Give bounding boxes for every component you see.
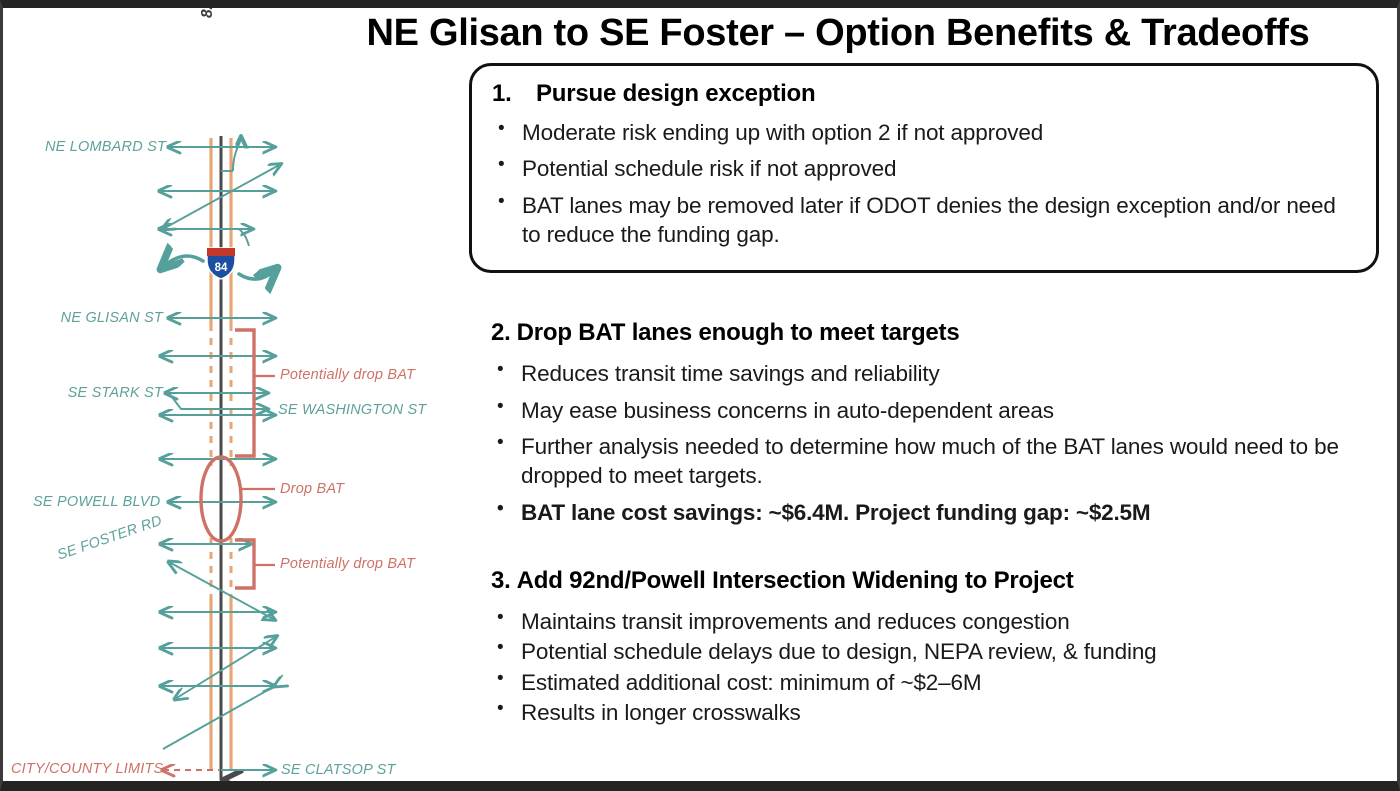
list-item-cost-savings: BAT lane cost savings: ~$6.4M. Project f… [491,498,1379,527]
option-3-bullet-list: Maintains transit improvements and reduc… [491,607,1379,728]
list-item: Results in longer crosswalks [491,698,1379,727]
slide-canvas: NE Glisan to SE Foster – Option Benefits… [3,8,1397,781]
option-1-bullet-list: Moderate risk ending up with option 2 if… [492,118,1358,250]
option-3-number: 3. [491,567,511,595]
option-3-section: 3.Add 92nd/Powell Intersection Widening … [469,567,1379,727]
street-label-se-powell: SE POWELL BLVD [33,494,158,510]
svg-text:84: 84 [215,262,228,274]
list-item: Potential schedule delays due to design,… [491,637,1379,666]
option-1-box: 1.Pursue design exception Moderate risk … [469,63,1379,273]
option-3-heading-text: Add 92nd/Powell Intersection Widening to… [517,567,1074,594]
corridor-map-diagram: 84 [3,8,469,788]
annotation-city-county-limits: CITY/COUNTY LIMITS [11,761,163,777]
option-2-heading-text: Drop BAT lanes enough to meet targets [517,319,960,346]
list-item: BAT lanes may be removed later if ODOT d… [492,191,1358,250]
options-content-column: 1.Pursue design exception Moderate risk … [469,63,1379,729]
street-label-ne-lombard: NE LOMBARD ST [45,139,163,155]
option-1-heading-text: Pursue design exception [536,80,815,107]
annotation-ellipse-powell [201,457,275,541]
list-item: Further analysis needed to determine how… [491,432,1379,491]
option-2-section: 2.Drop BAT lanes enough to meet targets … [469,319,1379,527]
slide-frame: NE Glisan to SE Foster – Option Benefits… [0,0,1400,791]
stub-ramp [239,229,249,246]
option-2-number: 2. [491,319,511,347]
street-label-se-stark: SE STARK ST [63,385,163,401]
list-item: Estimated additional cost: minimum of ~$… [491,668,1379,697]
option-1-heading: 1.Pursue design exception [492,80,1358,108]
option-2-bullet-list: Reduces transit time savings and reliabi… [491,359,1379,527]
corridor-label-82nd-avenue: 82ND AVENUE [199,0,217,18]
option-3-heading: 3.Add 92nd/Powell Intersection Widening … [491,567,1379,595]
option-1-number: 1. [492,80,536,108]
list-item: Reduces transit time savings and reliabi… [491,359,1379,388]
street-label-ne-glisan: NE GLISAN ST [53,310,163,326]
annotation-bracket-lower [235,540,275,588]
list-item: Potential schedule risk if not approved [492,154,1358,183]
street-label-se-clatsop: SE CLATSOP ST [281,762,396,778]
annotation-potentially-drop-bat-upper: Potentially drop BAT [280,367,415,383]
option-2-heading: 2.Drop BAT lanes enough to meet targets [491,319,1379,347]
annotation-potentially-drop-bat-lower: Potentially drop BAT [280,556,415,572]
annotation-drop-bat: Drop BAT [280,481,344,497]
list-item: Maintains transit improvements and reduc… [491,607,1379,636]
cross-street-arrows [160,147,275,686]
list-item: May ease business concerns in auto-depen… [491,396,1379,425]
street-label-se-washington: SE WASHINGTON ST [278,402,427,418]
list-item: Moderate risk ending up with option 2 if… [492,118,1358,147]
